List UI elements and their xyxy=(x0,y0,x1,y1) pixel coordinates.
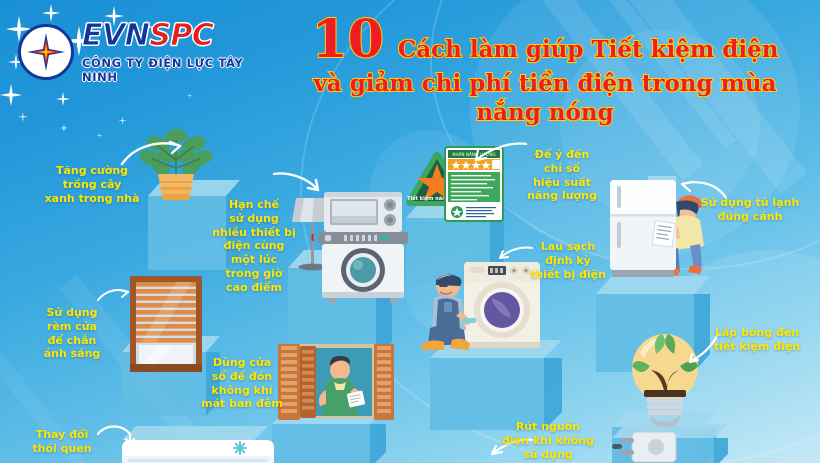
tip-label-peak-hours: Hạn chế sử dụng nhiều thiết bị điện cùng… xyxy=(212,198,296,294)
pedestal-front-face xyxy=(272,424,370,463)
window-blinds-icon xyxy=(130,276,202,372)
title-line1-text: Cách làm giúp Tiết kiệm điện xyxy=(398,37,779,62)
tip-label-plants: Tăng cường trồng cây xanh trong nhà xyxy=(28,164,156,205)
sparkle-icon xyxy=(60,124,68,132)
tip-label-curtains: Sử dụng rèm cửa để chắn ánh sáng xyxy=(34,306,110,361)
evn-compass-star-logo-icon xyxy=(18,24,74,80)
sparkle-icon xyxy=(18,112,28,122)
tip-label-unplug: Rút nguồn điện khi không sử dụng xyxy=(494,420,602,461)
tip-label-fridge-door: Sử dụng tủ lạnh đúng cánh xyxy=(688,196,812,224)
refrigerator-person-icon xyxy=(608,166,718,284)
appliances-lamp-microwave-washer-icon xyxy=(318,192,408,304)
eco-lightbulb-plant-icon xyxy=(626,330,704,430)
pedestal-side-face xyxy=(714,438,728,463)
energy-saving-infographic: EVNSPC CÔNG TY ĐIỆN LỰC TÂY NINH 10 Cách… xyxy=(0,0,820,463)
tip-label-habits: Thay đổi thói quen xyxy=(24,428,100,456)
tip-label-clean-devices: Lau sạch định kỳ thiết bị điện xyxy=(522,240,614,281)
air-conditioner-icon xyxy=(122,440,274,463)
title-number: 10 xyxy=(312,14,384,66)
title-first-line: 10 Cách làm giúp Tiết kiệm điện xyxy=(280,14,810,66)
energy-rating-card-icon: NHÃN NĂNG LƯỢNG xyxy=(444,146,504,222)
sparkle-icon xyxy=(56,92,70,106)
tip-label-night-air: Dùng cửa sổ để đón không khí mát ban đêm xyxy=(200,356,284,411)
title-line2-text: và giảm chi phí tiền điện trong mùa nắng… xyxy=(280,70,810,128)
pedestal-top-face xyxy=(122,426,268,440)
open-window-person-icon xyxy=(278,344,394,420)
arrow-to-curtains xyxy=(96,286,130,306)
logo-subtitle: CÔNG TY ĐIỆN LỰC TÂY NINH xyxy=(82,56,258,84)
page-title: 10 Cách làm giúp Tiết kiệm điện và giảm … xyxy=(280,14,810,128)
sparkle-icon xyxy=(96,132,103,139)
pedestal-side-face xyxy=(702,427,716,463)
evnspc-logo: EVNSPC CÔNG TY ĐIỆN LỰC TÂY NINH xyxy=(18,12,258,92)
logo-spc-text: SPC xyxy=(149,18,213,53)
sparkle-icon xyxy=(118,116,127,125)
svg-text:NHÃN NĂNG LƯỢNG: NHÃN NĂNG LƯỢNG xyxy=(452,152,495,157)
tip-label-energy-rating: Để ý đến chỉ số hiệu suất năng lượng xyxy=(516,148,608,203)
logo-wordmark: EVNSPC CÔNG TY ĐIỆN LỰC TÂY NINH xyxy=(82,21,258,84)
sparkle-icon xyxy=(186,92,193,99)
tip-label-led-bulbs: Lắp bóng đèn tiết kiệm điện xyxy=(702,326,812,354)
logo-evn-text: EVN xyxy=(82,18,149,53)
compass-star-glyph xyxy=(26,32,66,72)
logo-evnspc-text: EVNSPC xyxy=(82,21,258,51)
power-plug-icon xyxy=(612,428,682,463)
pedestal-side-face xyxy=(370,424,386,463)
